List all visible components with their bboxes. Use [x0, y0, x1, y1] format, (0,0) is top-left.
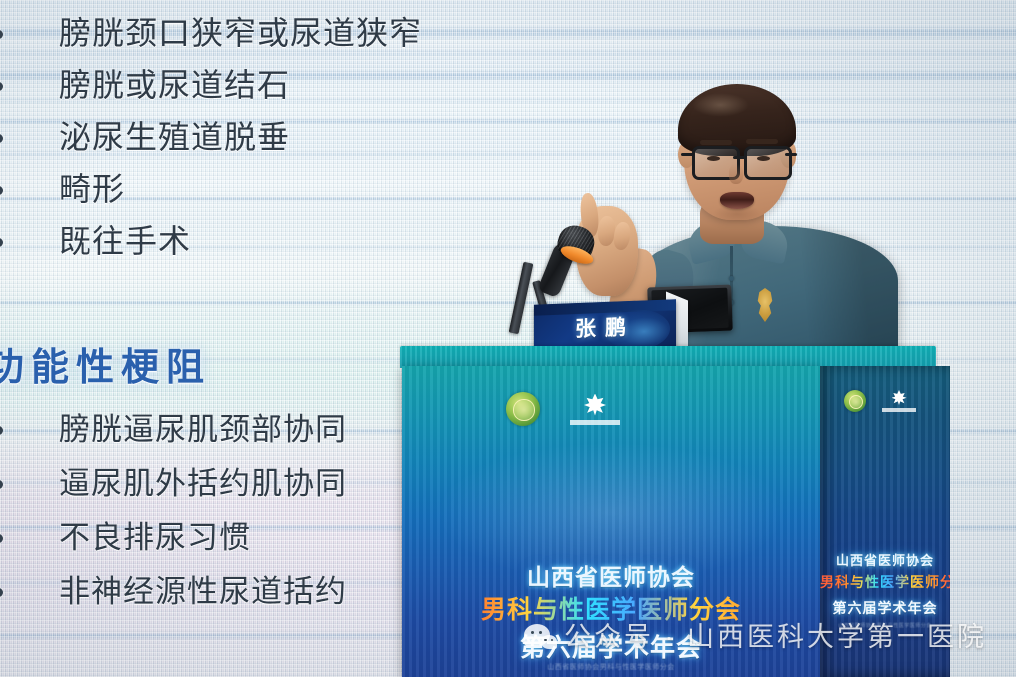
bullet-text: 膀胱颈口狭窄或尿道狭窄 — [59, 8, 422, 54]
wechat-small-bubble — [541, 635, 557, 649]
bullet-dot-icon — [0, 426, 3, 435]
bullet-dot-icon — [0, 588, 3, 597]
podium-right-line-1: 山西省医师协会 — [820, 550, 950, 569]
slide-bullet-item: 泌尿生殖道脱垂 — [0, 112, 290, 158]
slide-bullet-item: 逼尿肌外括约肌协同 — [0, 458, 347, 503]
glasses-bridge — [733, 156, 746, 159]
wechat-eye — [531, 631, 534, 634]
watermark-text: 公众号 · 山西医科大学第一医院 — [564, 615, 987, 654]
hospital-logo-icon — [570, 394, 620, 425]
nose — [729, 164, 743, 184]
hospital-star-mark — [584, 394, 606, 416]
eyebrow-left — [700, 140, 732, 145]
bullet-text: 泌尿生殖道脱垂 — [59, 112, 290, 158]
shirt-button — [729, 276, 734, 281]
temple-right — [785, 153, 797, 156]
bullet-text: 逼尿肌外括约肌协同 — [59, 458, 347, 503]
hospital-logo-caption — [882, 408, 916, 412]
slide-bullet-item: 膀胱颈口狭窄或尿道狭窄 — [0, 8, 422, 54]
slide-bullet-item: 既往手术 — [0, 216, 191, 262]
temple-left — [681, 153, 694, 156]
podium-top-surface — [400, 346, 936, 368]
bullet-dot-icon — [0, 82, 3, 91]
bullet-text: 不良排尿习惯 — [59, 512, 251, 557]
eye-right — [757, 156, 770, 161]
chin-shadow — [712, 204, 762, 224]
podium-right-line-2: 男科与性医学医师分会 — [820, 572, 950, 592]
slide-bullet-item: 膀胱逼尿肌颈部协同 — [0, 404, 347, 449]
slide-bullet-item: 膀胱或尿道结石 — [0, 60, 290, 106]
eyebrow-right — [746, 139, 778, 144]
bullet-text: 非神经源性尿道括约 — [59, 566, 347, 611]
slide-bullet-item: 畸形 — [0, 164, 125, 210]
podium-line-1: 山西省医师协会 — [402, 558, 820, 592]
podium-subline: 山西省医师协会男科与性医学医师分会 — [402, 662, 820, 672]
podium-logo-row — [506, 392, 620, 426]
bullet-dot-icon — [0, 186, 3, 195]
medical-association-emblem-icon — [844, 390, 866, 412]
slide-bullet-item: 非神经源性尿道括约 — [0, 566, 347, 611]
bullet-text: 膀胱或尿道结石 — [59, 60, 290, 106]
hospital-logo-icon — [882, 390, 916, 412]
watermark: 公众号 · 山西医科大学第一医院 — [524, 615, 987, 654]
podium-right-logo-row — [844, 390, 916, 412]
slide-bullet-item: 不良排尿习惯 — [0, 512, 251, 557]
bullet-dot-icon — [0, 238, 3, 247]
medical-association-emblem-icon — [506, 392, 540, 426]
bullet-dot-icon — [0, 134, 3, 143]
hospital-logo-caption — [570, 420, 620, 425]
screenshot-root: 膀胱颈口狭窄或尿道狭窄 膀胱或尿道结石 泌尿生殖道脱垂 畸形 既往手术 功能性梗… — [0, 0, 1016, 677]
bullet-text: 畸形 — [59, 164, 125, 210]
hospital-star-mark — [892, 390, 907, 405]
wechat-eye — [539, 631, 542, 634]
bullet-dot-icon — [0, 480, 3, 489]
lens-right — [744, 146, 792, 180]
slide-section-heading: 功能性梗阻 — [0, 336, 211, 391]
bullet-dot-icon — [0, 534, 3, 543]
wechat-icon — [524, 624, 550, 646]
bullet-text: 既往手术 — [59, 216, 191, 262]
podium-top-sheen — [400, 346, 936, 368]
bullet-dot-icon — [0, 30, 3, 39]
bullet-text: 膀胱逼尿肌颈部协同 — [59, 404, 347, 449]
eye-left — [707, 156, 720, 161]
